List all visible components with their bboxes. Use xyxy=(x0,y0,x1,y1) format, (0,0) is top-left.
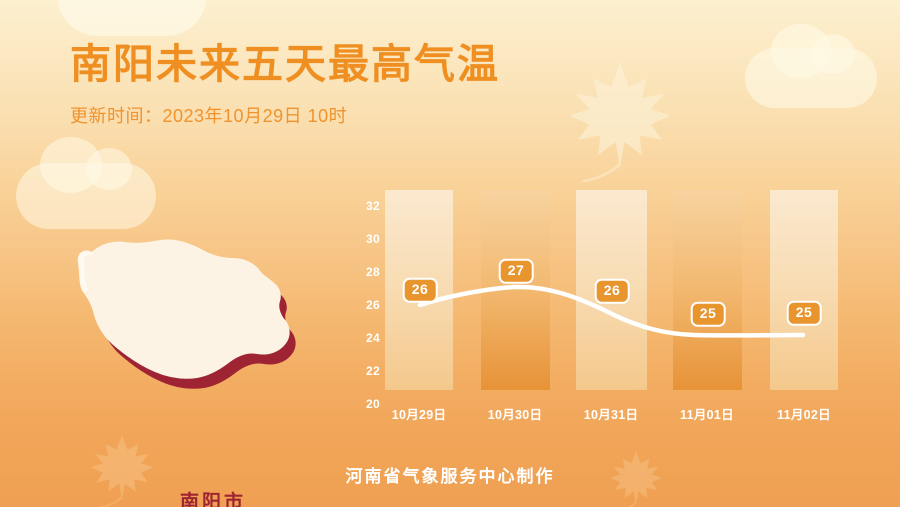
x-tick-2: 10月31日 xyxy=(584,404,639,423)
x-tick-4: 11月02日 xyxy=(777,404,831,423)
footer-credit: 河南省气象服务中心制作 xyxy=(0,462,900,487)
point-label-1: 27 xyxy=(499,259,534,284)
x-tick-3: 11月01日 xyxy=(680,404,734,423)
temperature-chart: 32 30 28 26 24 22 20 26 27 26 25 25 10月2… xyxy=(348,185,888,425)
nanyang-map: 南阳市 xyxy=(40,205,340,405)
cloud-icon-top-right xyxy=(745,48,877,108)
point-label-4: 25 xyxy=(787,301,822,326)
point-label-2: 26 xyxy=(595,279,630,304)
x-tick-0: 10月29日 xyxy=(392,404,447,423)
page-title: 南阳未来五天最高气温 xyxy=(70,42,500,87)
maple-leaf-icon-top-right xyxy=(565,58,675,182)
x-axis: 10月29日 10月30日 10月31日 11月01日 11月02日 xyxy=(348,401,888,425)
header: 南阳未来五天最高气温 更新时间：2023年10月29日 10时 xyxy=(70,42,500,128)
infographic-canvas: 南阳未来五天最高气温 更新时间：2023年10月29日 10时 南阳市 32 3… xyxy=(0,0,900,507)
cloud-icon-top-left xyxy=(58,0,206,36)
map-region-label: 南阳市 xyxy=(180,487,246,507)
point-label-3: 25 xyxy=(691,302,726,327)
x-tick-1: 10月30日 xyxy=(488,404,543,423)
map-shape xyxy=(40,205,340,405)
point-label-0: 26 xyxy=(403,278,438,303)
update-time-text: 更新时间：2023年10月29日 10时 xyxy=(70,102,500,128)
